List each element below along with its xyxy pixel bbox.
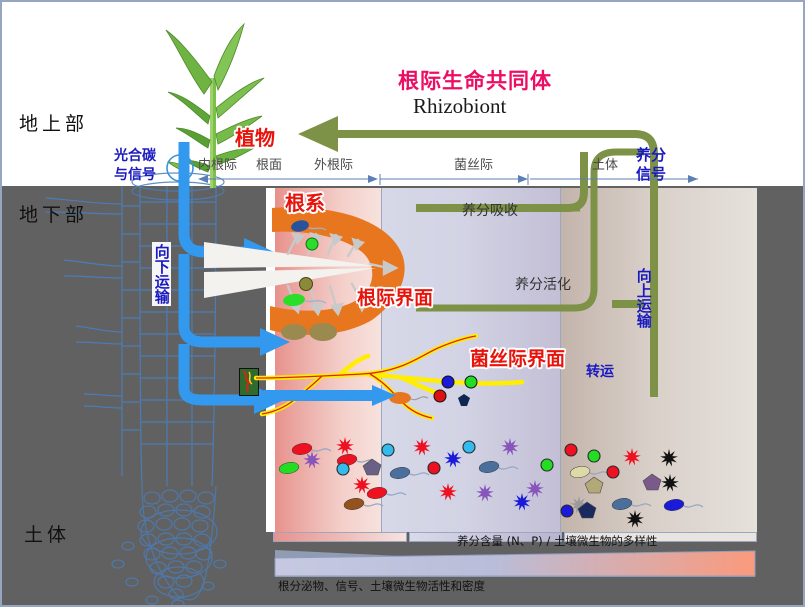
microbe	[476, 484, 494, 501]
microbe	[444, 450, 462, 467]
microbe	[353, 476, 371, 493]
microbe	[343, 497, 383, 511]
zone-label-bulk-soil: 土体	[592, 154, 618, 173]
zone-label-hyphosphere: 菌丝际	[454, 154, 493, 173]
microbe	[643, 474, 661, 490]
zone-label-endorhizosphere: 内根际	[198, 154, 237, 173]
microbe	[463, 441, 475, 453]
label-nutrient-signal-line1: 养分	[636, 144, 666, 165]
label-hyphosphere-interface: 菌丝际界面	[470, 344, 565, 371]
microbe	[513, 493, 531, 510]
microbe	[428, 462, 440, 474]
label-photosynthate-line2: 与信号	[114, 164, 156, 184]
page-title-en: Rhizobiont	[413, 94, 506, 119]
gradient-bottom-label: 根分泌物、信号、土壤微生物活性和密度	[278, 578, 485, 594]
microbe	[366, 486, 406, 500]
label-downward-transport: 向下运输	[152, 242, 171, 306]
microbe	[623, 448, 641, 465]
microbe	[541, 459, 553, 471]
label-bulk-soil-left: 土体	[24, 520, 70, 547]
label-nutrient-activation: 养分活化	[515, 274, 571, 294]
label-root-system: 根系	[285, 187, 325, 216]
label-photosynthate-line1: 光合碳	[114, 145, 156, 165]
microbe	[413, 438, 431, 455]
microbe	[585, 477, 603, 493]
label-below-ground: 地下部	[19, 200, 88, 227]
microbe	[626, 510, 644, 527]
microbe	[439, 483, 457, 500]
label-upward-transport: 向上运输	[635, 268, 652, 328]
microbe	[501, 438, 519, 455]
microbe	[389, 466, 429, 480]
microbe	[278, 461, 300, 475]
strip-rhizosphere	[273, 532, 407, 542]
microbe	[611, 497, 651, 511]
microbe	[663, 498, 703, 512]
page-title-cn: 根际生命共同体	[398, 65, 552, 95]
label-above-ground: 地上部	[19, 109, 88, 136]
diagram-canvas: 内根际 根面 外根际 菌丝际 土体 根际生命共同体 Rhizobiont 地上部	[0, 0, 805, 607]
zone-label-ectorhizosphere: 外根际	[314, 154, 353, 173]
label-nutrient-signal-line2: 信号	[636, 163, 666, 184]
microbe	[337, 463, 349, 475]
microbe	[336, 437, 354, 454]
microbe	[478, 460, 518, 474]
zone-label-rhizoplane: 根面	[256, 154, 282, 173]
microbe	[565, 444, 577, 456]
microbe	[526, 480, 544, 497]
zone-axis-lines	[198, 174, 798, 186]
zone-axis-row: 内根际 根面 外根际 菌丝际 土体	[198, 154, 798, 184]
microbe	[660, 449, 678, 466]
microbe	[569, 465, 609, 479]
label-plant: 植物	[235, 122, 275, 151]
label-translocation: 转运	[586, 361, 614, 381]
microbe	[588, 450, 600, 462]
microbe	[561, 505, 573, 517]
microbe	[291, 442, 331, 456]
microbe	[607, 466, 619, 478]
label-rhizosphere-interface: 根际界面	[357, 283, 433, 310]
microbe	[661, 474, 679, 491]
microbe	[382, 444, 394, 456]
label-nutrient-uptake: 养分吸收	[462, 200, 518, 220]
